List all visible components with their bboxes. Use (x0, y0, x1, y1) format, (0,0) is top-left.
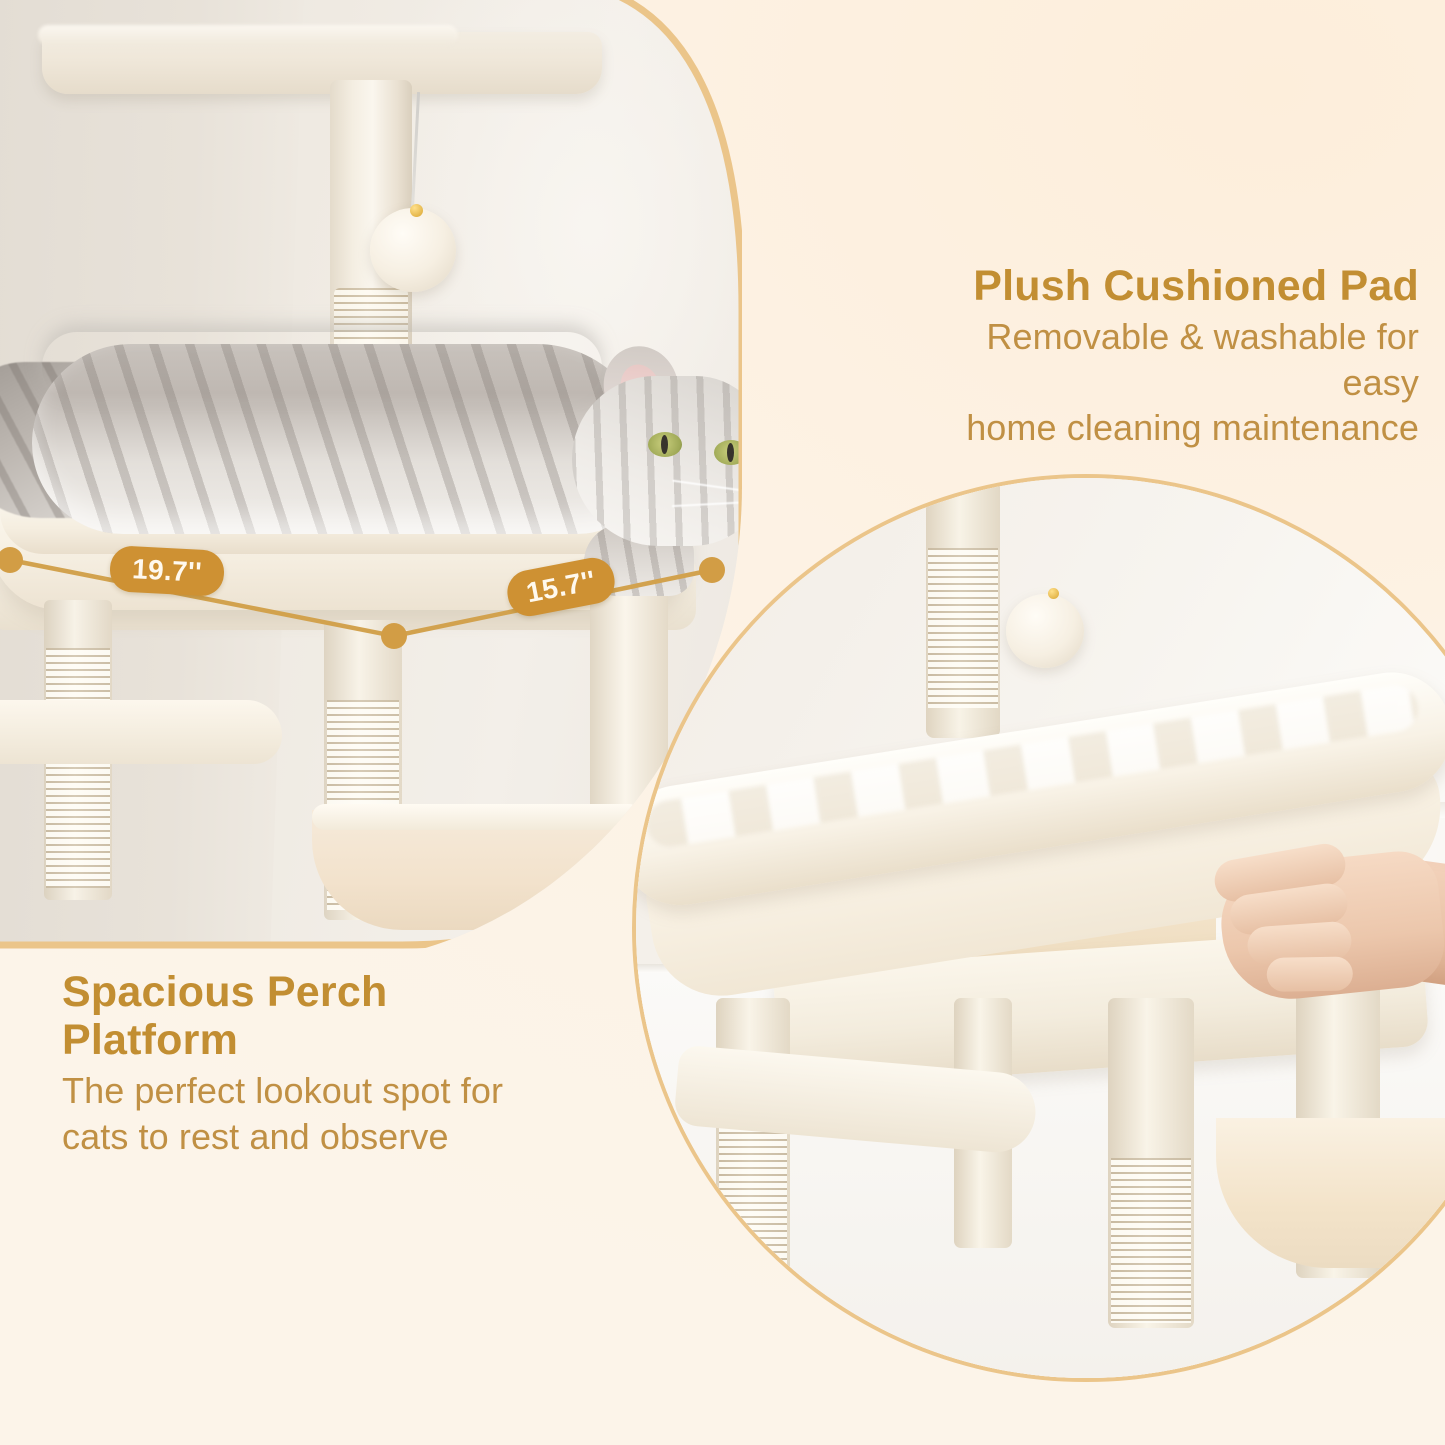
feature-block-spacious-perch-platform: Spacious Perch Platform The perfect look… (62, 968, 622, 1159)
cat-fur-highlight (42, 332, 602, 402)
photo-scene-cat-perch (0, 0, 742, 965)
feature-title-line: Spacious Perch (62, 968, 622, 1016)
feature-title: Plush Cushioned Pad (853, 262, 1419, 310)
upper-post (926, 478, 1000, 738)
top-platform (42, 32, 602, 94)
cat-eye-left (648, 432, 682, 457)
feature-description-line: home cleaning maintenance (853, 405, 1419, 450)
feature-description: The perfect lookout spot for cats to res… (62, 1068, 622, 1159)
feature-block-plush-cushioned-pad: Plush Cushioned Pad Removable & washable… (853, 262, 1419, 450)
pom-pom-toy (1006, 594, 1084, 668)
feature-description: Removable & washable for easy home clean… (853, 314, 1419, 450)
feature-description-line: cats to rest and observe (62, 1114, 622, 1159)
feature-description-line: The perfect lookout spot for (62, 1068, 622, 1113)
bell-icon (1048, 588, 1059, 599)
top-left-photo-panel: 19.7'' 15.7'' (0, 0, 742, 965)
cat-eye-right (714, 440, 742, 465)
pom-pom-toy (370, 208, 456, 292)
dimension-badge-width: 19.7'' (109, 545, 225, 597)
lower-hammock (312, 810, 642, 930)
finger (1266, 956, 1353, 991)
feature-description-line: easy (853, 360, 1419, 405)
support-post (716, 998, 790, 1328)
cat-on-perch-photo (0, 0, 742, 965)
bottom-right-photo-panel (636, 478, 1445, 1378)
hand-holding-pad (1140, 754, 1445, 1132)
infographic-canvas: 19.7'' 15.7'' (0, 0, 1445, 1445)
cat-illustration (0, 310, 742, 570)
feature-title: Spacious Perch Platform (62, 968, 622, 1064)
feature-description-line: Removable & washable for (853, 314, 1419, 359)
removable-pad-photo (636, 478, 1445, 1378)
lower-shelf (0, 700, 282, 764)
bell-icon (410, 204, 423, 217)
feature-title-line: Platform (62, 1016, 622, 1064)
